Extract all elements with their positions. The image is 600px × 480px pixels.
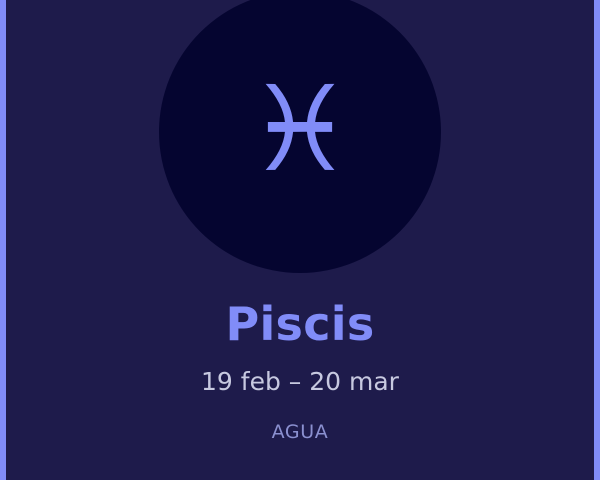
zodiac-sign-card: ♓ Piscis 19 feb – 20 mar AGUA: [0, 0, 600, 480]
sign-element-label: AGUA: [0, 396, 600, 443]
right-edge-accent: [594, 0, 600, 480]
pisces-glyph-icon: ♓: [159, 0, 441, 273]
sign-name: Piscis: [0, 300, 600, 348]
sign-date-range: 19 feb – 20 mar: [0, 348, 600, 396]
sign-info: Piscis 19 feb – 20 mar AGUA: [0, 300, 600, 443]
sign-disc: ♓: [159, 0, 441, 273]
